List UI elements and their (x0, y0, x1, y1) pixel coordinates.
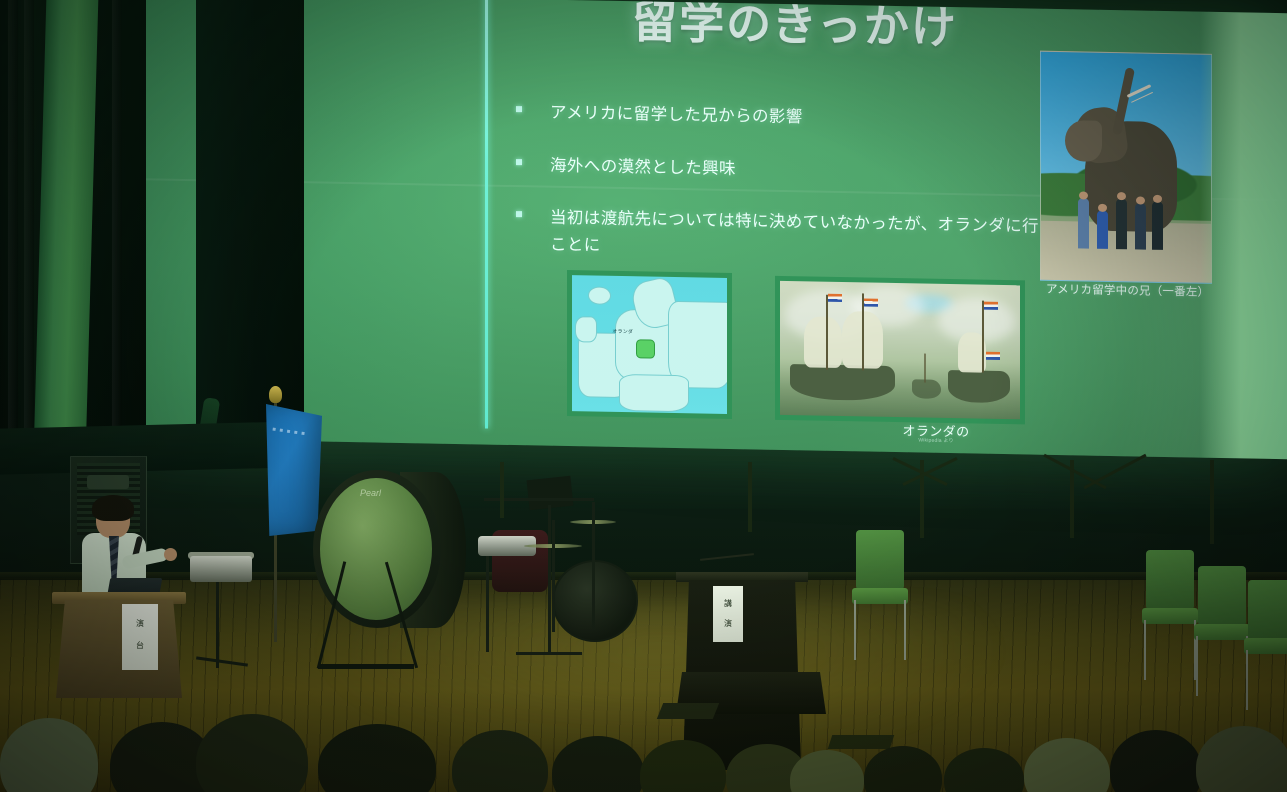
bullet-square-icon (516, 106, 522, 112)
music-stand-legs (516, 652, 582, 655)
bullet-text: アメリカに留学した兄からの影響 (550, 103, 803, 127)
list-item: 当初は渡航先については特に決めていなかったが、オランダに行くことに (510, 204, 1070, 268)
chair-seat (1194, 624, 1250, 640)
ship-hull (948, 370, 1010, 403)
center-podium-sign: 講 演 (713, 586, 743, 642)
lectern-sign-bottom: 台 (122, 640, 158, 651)
drum-stand (216, 582, 219, 668)
cymbal-stand (592, 502, 595, 630)
slide-bullet-list: アメリカに留学した兄からの影響 海外への漠然とした興味 当初は渡航先については特… (510, 99, 1070, 294)
music-stand-pole (548, 505, 551, 655)
flag-finial (269, 386, 282, 403)
ship-sail (804, 316, 842, 368)
chair-back (856, 530, 904, 590)
cymbal-stand (552, 520, 555, 632)
curtain-fold (112, 0, 122, 470)
school-flag (266, 404, 322, 536)
slide-title: 留学のきっかけ (560, 0, 1030, 57)
audience-head (452, 730, 548, 792)
stage-curtain-inner (196, 0, 304, 462)
slide-accent-rule (485, 0, 488, 429)
curtain-fold (8, 0, 18, 470)
ship-mast (826, 295, 828, 370)
hi-hat-stand (486, 556, 489, 652)
presenter-hair (92, 495, 134, 521)
brother-photo-caption: アメリカ留学中の兄（一番左） (1046, 281, 1221, 301)
audience-head (790, 750, 864, 792)
map-label-netherlands: オランダ (612, 328, 633, 335)
audience-head (552, 736, 644, 792)
backdrop-pole (1210, 460, 1214, 544)
stage-curtain-left (0, 0, 146, 470)
ship-hull (790, 364, 896, 401)
lectern-sign: 演 台 (122, 604, 158, 670)
dutch-flag-icon (828, 294, 842, 302)
europe-map: オランダ (567, 270, 732, 419)
audience (0, 662, 1287, 792)
chair-seat (1244, 638, 1287, 654)
person-figure (1097, 211, 1108, 249)
speaker-horn (87, 475, 129, 489)
chair-back (1248, 580, 1287, 640)
snare-drum (190, 556, 252, 582)
bullet-text: 当初は渡航先については特に決めていなかったが、オランダに行くことに (550, 208, 1056, 255)
person-figure (1152, 202, 1163, 250)
screenshot-root: ▪ ▪ ▪ ▪ ▪ ▪ 留学のきっかけ アメリカに留学した兄からの影響 海外への… (0, 0, 1287, 792)
audience-head (0, 718, 98, 792)
chair-leg (904, 600, 906, 660)
backdrop-pole (748, 462, 752, 532)
map-landmass (588, 286, 612, 305)
dutch-flag-icon (984, 302, 998, 310)
person-figure (1135, 204, 1146, 250)
bullet-text: 海外への漠然とした興味 (550, 155, 736, 177)
lectern-sign-top: 演 (122, 618, 158, 629)
dutch-ships-painting (775, 276, 1025, 425)
center-podium-sign-top: 講 (713, 598, 743, 609)
audience-head (1024, 738, 1110, 792)
pearl-logo: Pearl (360, 488, 381, 498)
person-figure (1116, 199, 1127, 249)
dutch-flag-icon (864, 299, 878, 307)
curtain-lit-strip (34, 0, 99, 452)
person-figure (1078, 198, 1089, 248)
curtain-fold (24, 0, 34, 470)
netherlands-highlight (636, 339, 655, 359)
audience-head (944, 748, 1024, 792)
audience-head (864, 746, 942, 792)
audience-head (640, 740, 726, 792)
kit-bass-drum (552, 560, 638, 642)
audience-head (1196, 726, 1287, 792)
elephant-ear (1065, 121, 1102, 163)
dutch-flag-icon (986, 352, 1000, 360)
chair-seat (852, 588, 908, 604)
map-landmass (619, 374, 689, 413)
presenter-hand (164, 548, 177, 561)
ship-mast (924, 353, 926, 383)
audience-head (1110, 730, 1202, 792)
audience-head (318, 724, 436, 792)
ship-mast (982, 301, 984, 373)
bullet-square-icon (516, 212, 522, 218)
screen-hotspot (1200, 12, 1287, 460)
map-landmass (575, 316, 597, 343)
chair-seat (1142, 608, 1198, 624)
chair-leg (854, 600, 856, 660)
bullet-square-icon (516, 159, 522, 165)
center-podium-sign-bottom: 演 (713, 618, 743, 629)
stage-valance (0, 421, 300, 474)
backdrop-pole (500, 462, 504, 518)
chair-back (1198, 566, 1246, 626)
list-item: 海外への漠然とした興味 (510, 152, 1070, 189)
chair-back (1146, 550, 1194, 610)
brother-elephant-photo (1040, 51, 1212, 284)
ship-hull (912, 380, 941, 399)
audience-head (196, 714, 308, 792)
